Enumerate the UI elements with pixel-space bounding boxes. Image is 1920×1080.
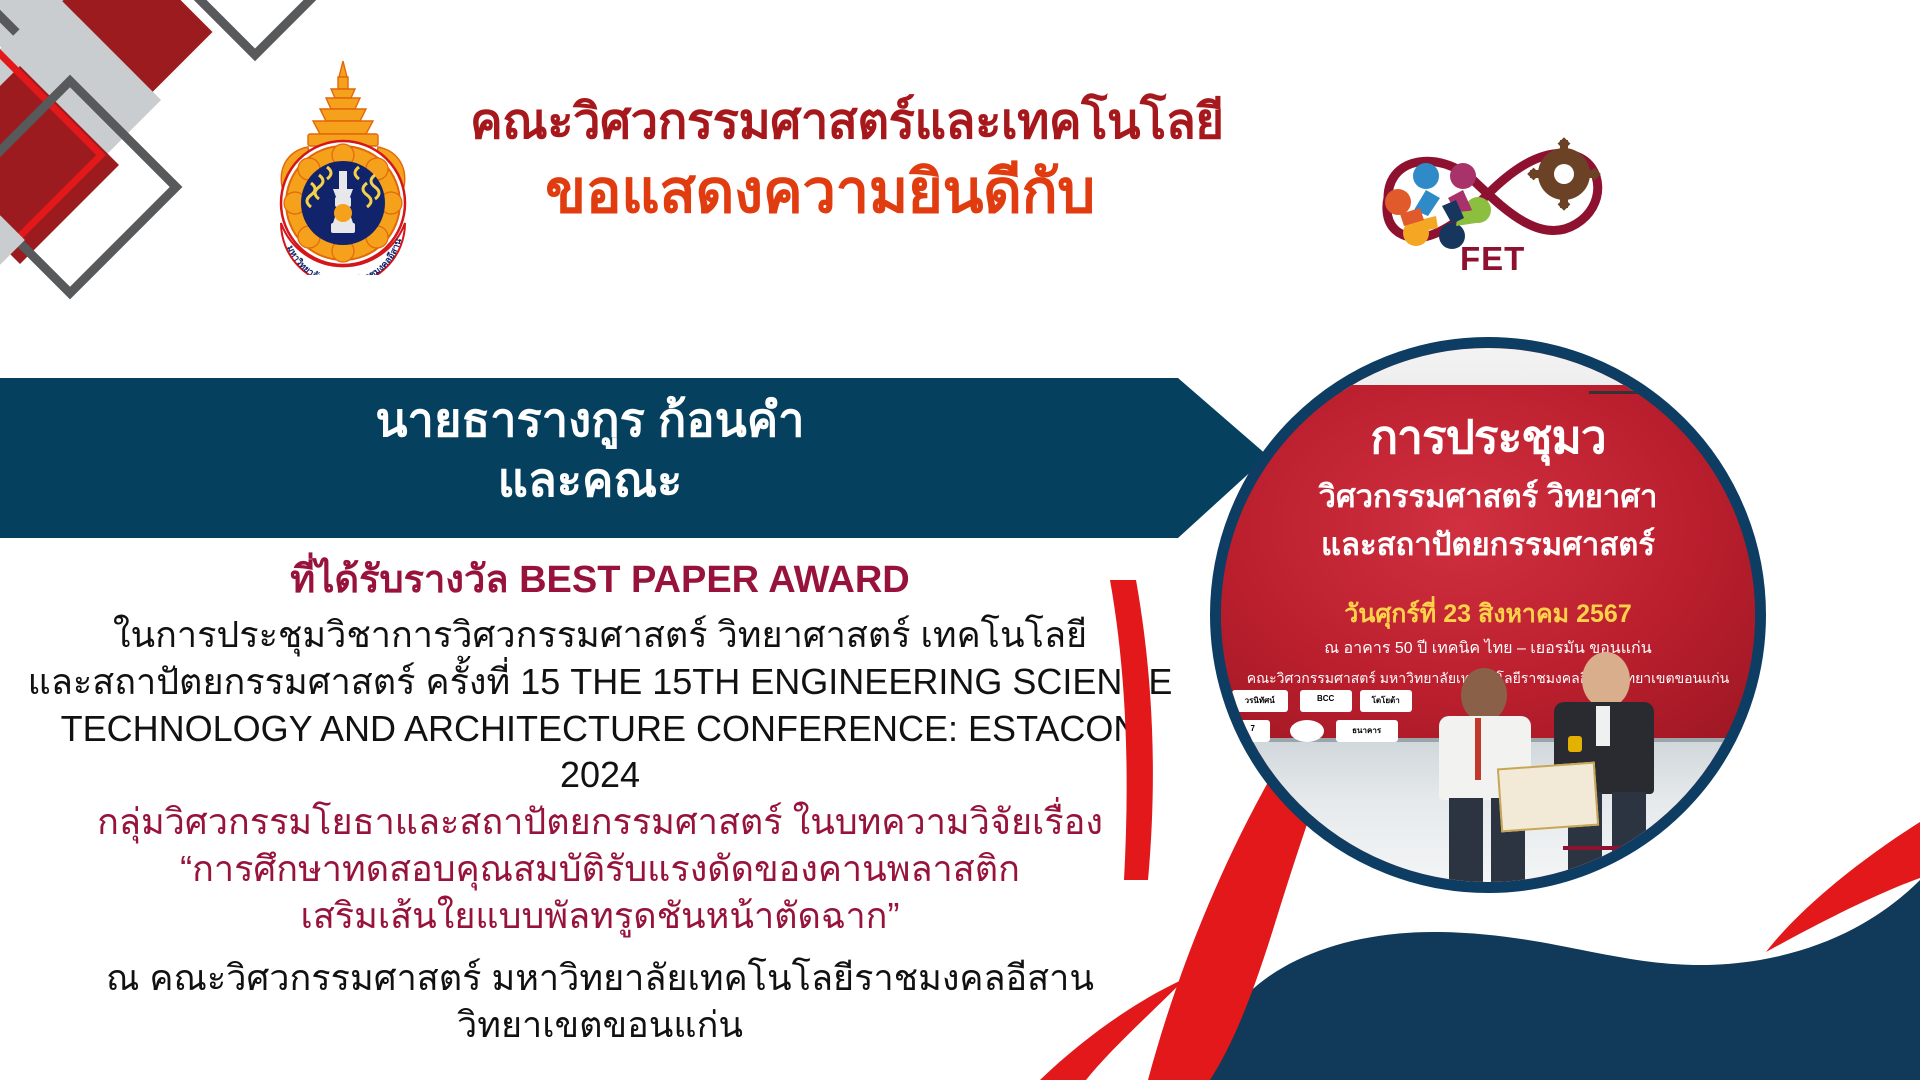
presenter-medal: [1568, 736, 1582, 752]
emblem-svg: มหาวิทยาลัยเทคโนโลยีราชมงคลอีสาน: [253, 55, 433, 275]
backdrop-date: วันศุกร์ที่ 23 สิงหาคม 2567: [1242, 594, 1733, 634]
gear-icon: [1527, 137, 1601, 211]
recipient-lanyard: [1475, 718, 1481, 780]
header-text-block: คณะวิศวกรรมศาสตร์และเทคโนโลยี ขอแสดงความ…: [470, 95, 1170, 228]
recipient-head: [1461, 668, 1507, 722]
photo-badge-label: ESTACON 2024: [1253, 369, 1348, 384]
congratulations-banner: มหาวิทยาลัยเทคโนโลยีราชมงคลอีสาน คณะวิศว…: [0, 0, 1920, 1080]
congratulations-title: ขอแสดงความยินดีกับ: [470, 156, 1170, 228]
awardee-team: และคณะ: [0, 450, 1180, 510]
photo-best-label: BES: [1668, 359, 1717, 389]
backdrop-title: การประชุมว: [1242, 401, 1733, 474]
faculty-title: คณะวิศวกรรมศาสตร์และเทคโนโลยี: [470, 95, 1170, 150]
photo-certificate: [1497, 761, 1599, 832]
backdrop-line-3: และสถาปัตยกรรมศาสตร์: [1232, 519, 1745, 569]
sponsor-logo-4: 7: [1236, 720, 1270, 742]
presenter-shirt: [1596, 706, 1610, 746]
sponsor-logo-3: โตโยต้า: [1360, 690, 1412, 712]
rmuti-university-emblem: มหาวิทยาลัยเทคโนโลยีราชมงคลอีสาน: [253, 55, 433, 275]
sponsor-logo-5: [1290, 720, 1324, 742]
backdrop-line-2: วิศวกรรมศาสตร์ วิทยาศา: [1232, 471, 1745, 521]
sponsor-logo-6: ธนาคาร: [1336, 720, 1398, 742]
photo-inner: ESTACON 2024 BES การประชุมว วิศวกรรมศาสต…: [1221, 348, 1755, 882]
banner-text-block: นายธารางกูร ก้อนคำ และคณะ: [0, 390, 1180, 510]
award-ceremony-photo: ESTACON 2024 BES การประชุมว วิศวกรรมศาสต…: [1210, 337, 1766, 893]
sponsor-logo-1: วรนิทัศน์: [1232, 690, 1288, 712]
decorative-red-sliver: [1096, 580, 1206, 880]
awardee-name: นายธารางกูร ก้อนคำ: [0, 390, 1180, 450]
photo-best-underline: [1589, 391, 1728, 394]
photo-bottom-underline: [1563, 846, 1638, 850]
fet-label: FET: [1460, 240, 1525, 278]
presenter-leg-right: [1612, 792, 1646, 882]
presenter-head: [1582, 652, 1630, 708]
sponsor-logo-2: BCC: [1300, 690, 1352, 712]
recipient-leg-left: [1449, 798, 1483, 882]
sponsor-logo-strip: วรนิทัศน์ BCC โตโยต้า 7 ธนาคาร: [1232, 690, 1467, 759]
